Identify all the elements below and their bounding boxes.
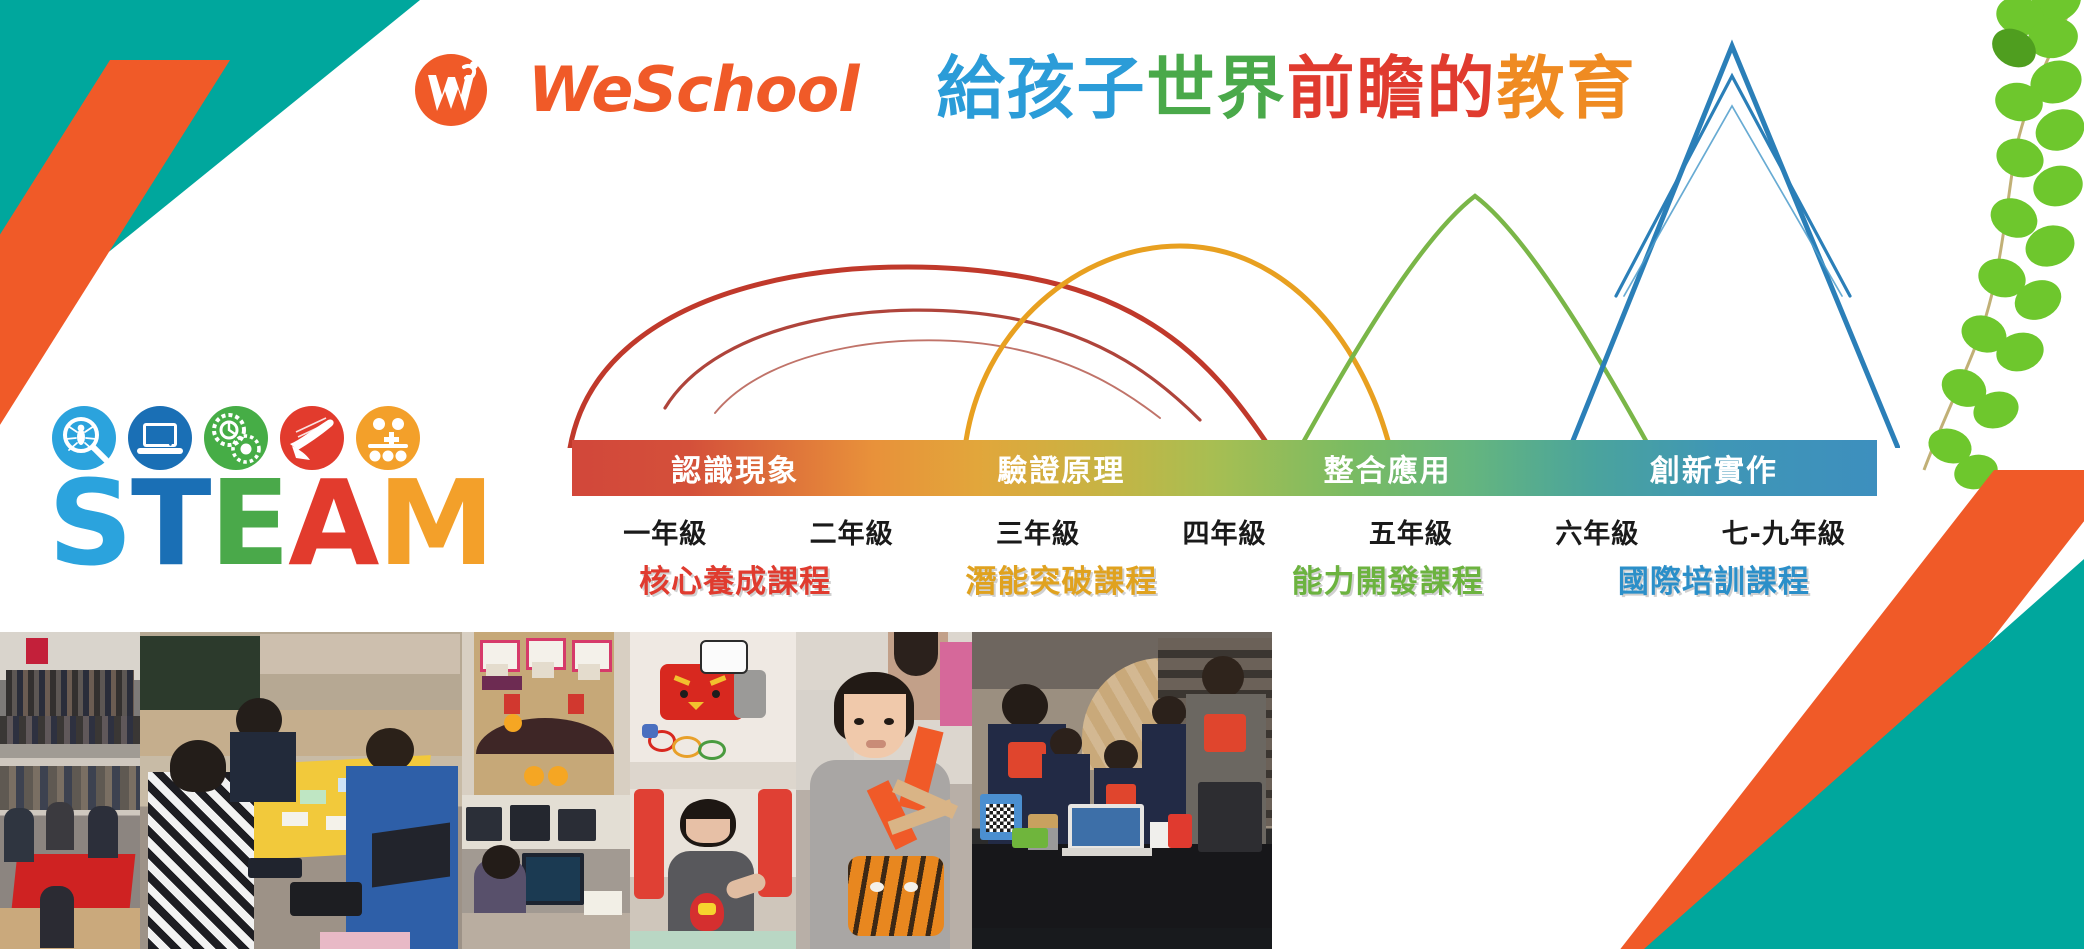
laptop-icon	[128, 406, 192, 470]
photo-cardboard-basketball	[462, 632, 630, 795]
paintbrush-icon	[280, 406, 344, 470]
photo-lecture-hall-students	[0, 632, 140, 758]
stage-label-4: 創新實作	[1551, 446, 1877, 490]
steam-wordmark: S T E A M	[48, 464, 452, 582]
photo-column-5	[796, 632, 972, 949]
stage-label-2: 驗證原理	[898, 446, 1224, 490]
photo-laptop-coding-class	[462, 795, 630, 949]
grade-label-2: 二年級	[758, 512, 944, 548]
steam-letter-m: M	[377, 464, 492, 582]
arc-green-icon	[1300, 196, 1650, 448]
grade-label-row: 一年級 二年級 三年級 四年級 五年級 六年級 七-九年級	[572, 512, 1877, 548]
grade-label-3: 三年級	[945, 512, 1131, 548]
gears-icon	[204, 406, 268, 470]
grade-label-7: 七-九年級	[1691, 512, 1877, 548]
math-symbols-icon	[356, 406, 420, 470]
course-label-4: 國際培訓課程	[1551, 556, 1877, 600]
stage-label-1: 認識現象	[572, 446, 898, 490]
grade-label-6: 六年級	[1504, 512, 1690, 548]
course-label-2: 潛能突破課程	[898, 556, 1224, 600]
photo-maker-faire-booth	[972, 632, 1272, 949]
photo-girl-crafting	[630, 789, 796, 949]
photo-column-4	[630, 632, 796, 949]
learning-stage-bar: 認識現象 驗證原理 整合應用 創新實作	[572, 440, 1877, 496]
headline-segment-4: 教育	[1497, 56, 1637, 124]
steam-letter-s: S	[48, 464, 131, 582]
grade-label-1: 一年級	[572, 512, 758, 548]
steam-icon-row	[52, 406, 452, 470]
course-label-row: 核心養成課程 潛能突破課程 能力開發課程 國際培訓課程	[572, 556, 1877, 600]
banner-header: WeSchool 給孩子 世界 前瞻的 教育	[412, 44, 1637, 136]
weschool-banner: WeSchool 給孩子 世界 前瞻的 教育	[0, 0, 2084, 949]
headline-segment-1: 給孩子	[936, 56, 1146, 124]
photo-column-1	[0, 632, 140, 949]
headline-slogan: 給孩子 世界 前瞻的 教育	[936, 56, 1636, 124]
stage-label-3: 整合應用	[1225, 446, 1551, 490]
photo-column-2	[140, 632, 462, 949]
grade-label-5: 五年級	[1318, 512, 1504, 548]
photo-column-3	[462, 632, 630, 949]
photo-red-robot-box	[630, 632, 796, 789]
weschool-logo-text: WeSchool	[528, 59, 858, 121]
magnifier-bug-icon	[52, 406, 116, 470]
headline-segment-2: 世界	[1146, 56, 1286, 124]
course-label-1: 核心養成課程	[572, 556, 898, 600]
steam-letter-e: E	[210, 464, 289, 582]
steam-logo-block: S T E A M	[52, 406, 452, 582]
grade-label-4: 四年級	[1131, 512, 1317, 548]
steam-letter-t: T	[131, 464, 210, 582]
photo-red-table-workshop	[0, 758, 140, 949]
headline-segment-3: 前瞻的	[1287, 56, 1497, 124]
photo-column-6	[972, 632, 1272, 949]
photo-group-yellow-poster	[140, 632, 462, 949]
photo-boy-with-tiger-craft	[796, 632, 972, 949]
course-label-3: 能力開發課程	[1225, 556, 1551, 600]
steam-letter-a: A	[288, 464, 377, 582]
weschool-w-badge-icon	[412, 51, 490, 129]
arc-red-icon	[570, 267, 1270, 448]
